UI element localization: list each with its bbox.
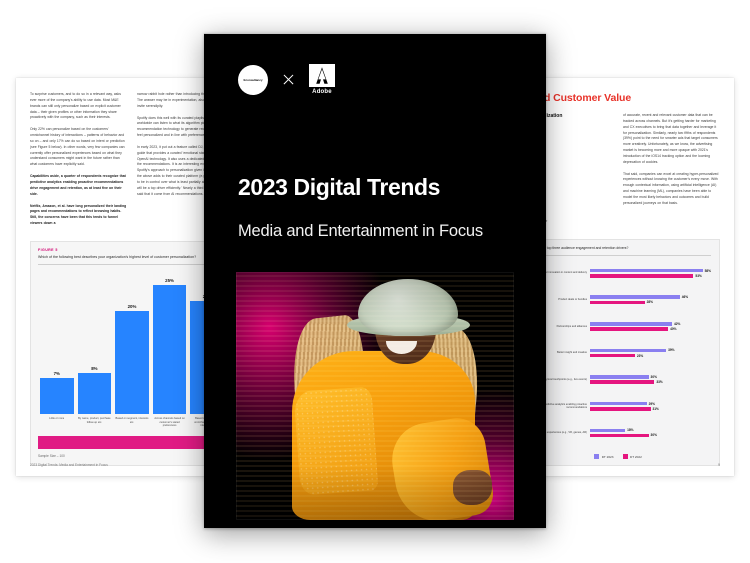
bar-pair: 39%23% — [590, 348, 711, 357]
left-page-column-1: To surprise customers, and to do so in a… — [30, 92, 127, 233]
bar-category-label: Little or none — [49, 417, 64, 431]
bar-line: 31% — [590, 407, 711, 411]
bar-line: 30% — [590, 433, 711, 437]
bar — [590, 402, 647, 406]
bar — [115, 311, 149, 414]
bar-row: Events or physical touchpoints (e.g., li… — [525, 368, 711, 392]
adobe-wordmark: Adobe — [312, 89, 332, 95]
legend-item: DT 2023 — [594, 454, 613, 459]
figure-question: Which of the following best describes yo… — [38, 255, 226, 265]
bar-category-label: Across channels based on customer's stat… — [153, 417, 187, 431]
bar-line: 28% — [590, 300, 711, 304]
bar-group: 8%By name, product, purchase follow-up e… — [78, 270, 112, 431]
bar — [590, 354, 635, 358]
figure-footnote: Sample Size – 100 — [38, 454, 226, 458]
bar-value-label: 31% — [653, 407, 659, 411]
bar-value-label: 33% — [656, 380, 662, 384]
adobe-a-glyph — [309, 64, 335, 87]
bar-pair: 29%31% — [590, 402, 711, 411]
cover-logo-lockup: Econsultancy Adobe — [238, 64, 335, 95]
bar — [590, 407, 651, 411]
bar — [590, 322, 672, 326]
bar-value-label: 8% — [91, 366, 97, 371]
bar-category-label: Based on segment, interests etc. — [115, 417, 149, 431]
footer-page-number: 9 — [718, 463, 720, 467]
bar — [590, 295, 680, 299]
paragraph: Capabilities aside, a quarter of respond… — [30, 174, 127, 197]
right-page-footer: ainment in Focus 9 — [516, 463, 720, 467]
legend-label: DT 2023 — [602, 455, 614, 459]
paragraph: of accurate, recent and relevant custome… — [623, 113, 720, 166]
bar-value-label: 20% — [128, 304, 137, 309]
bar-row: Immersive experiences (e.g., VR, games, … — [525, 421, 711, 445]
bar — [590, 269, 703, 273]
bar-pair: 18%30% — [590, 428, 711, 437]
cover-photo — [236, 272, 514, 520]
bar — [590, 327, 668, 331]
bar-line: 33% — [590, 380, 711, 384]
bar-pair: 42%40% — [590, 322, 711, 331]
bar-value-label: 30% — [651, 433, 657, 437]
bar — [590, 375, 649, 379]
bar-group: 7%Little or none — [40, 270, 74, 431]
bar-line: 30% — [590, 375, 711, 379]
bar-line: 39% — [590, 348, 711, 352]
right-page-column-2: of accurate, recent and relevant custome… — [623, 113, 720, 231]
paragraph: That said, companies can excel at creati… — [623, 172, 720, 207]
paragraph: Netflix, Amazon, et al. have long person… — [30, 204, 127, 227]
x-icon — [282, 73, 295, 86]
legend-item: DT 2022 — [623, 454, 642, 459]
bar — [153, 285, 187, 414]
bar-value-label: 42% — [674, 322, 680, 326]
bar — [78, 373, 112, 414]
econsultancy-logo-text: Econsultancy — [244, 78, 263, 82]
bar-line: 53% — [590, 274, 711, 278]
adobe-logo-icon: Adobe — [309, 64, 335, 95]
photo-border — [236, 272, 514, 520]
bar-row: Greater innovation in content and delive… — [525, 261, 711, 285]
footer-text: 2023 Digital Trends: Media and Entertain… — [30, 463, 108, 467]
horizontal-bar-chart: Greater innovation in content and delive… — [525, 261, 711, 445]
bar-value-label: 53% — [695, 274, 701, 278]
bar — [590, 434, 649, 438]
bar-row: Predictive analytics enabling proactive … — [525, 394, 711, 418]
bar — [590, 429, 625, 433]
bar-value-label: 39% — [668, 348, 674, 352]
bar — [590, 301, 645, 305]
bar-value-label: 29% — [649, 402, 655, 406]
legend-swatch — [594, 454, 599, 459]
figure-label: FIGURE 5 — [38, 248, 226, 252]
bar-row: Better insight and creative39%23% — [525, 341, 711, 365]
bar-value-label: 40% — [670, 327, 676, 331]
figure-accent-bar — [38, 436, 226, 449]
bar-pair: 30%33% — [590, 375, 711, 384]
bar-line: 40% — [590, 327, 711, 331]
cover-subtitle: Media and Entertainment in Focus — [238, 222, 483, 241]
bar-value-label: 30% — [651, 375, 657, 379]
bar-line: 23% — [590, 354, 711, 358]
right-page-figure: organization's top three audience engage… — [516, 239, 720, 466]
bar-group: 25%Across channels based on customer's s… — [153, 270, 187, 431]
document-preview-stage: To surprise customers, and to do so in a… — [0, 0, 750, 563]
bar-line: 58% — [590, 269, 711, 273]
bar-row: Partnerships and alliances42%40% — [525, 314, 711, 338]
bar-line: 18% — [590, 428, 711, 432]
bar-pair: 58%53% — [590, 269, 711, 278]
econsultancy-logo-icon: Econsultancy — [238, 65, 268, 95]
bar-line: 29% — [590, 402, 711, 406]
bar-line: 46% — [590, 295, 711, 299]
bar-value-label: 23% — [637, 354, 643, 358]
bar-pair: 46%28% — [590, 295, 711, 304]
bar-value-label: 18% — [627, 428, 633, 432]
bar-value-label: 25% — [165, 278, 174, 283]
bar-value-label: 46% — [682, 295, 688, 299]
bar-group: 20%Based on segment, interests etc. — [115, 270, 149, 431]
bar-value-label: 28% — [647, 300, 653, 304]
bar-value-label: 7% — [54, 371, 60, 376]
bar-category-label: By name, product, purchase follow-up etc… — [78, 417, 112, 431]
legend-swatch — [623, 454, 628, 459]
bar — [590, 380, 654, 384]
cover-title: 2023 Digital Trends — [238, 174, 440, 201]
vertical-bar-chart: 7%Little or none8%By name, product, purc… — [38, 270, 226, 431]
bar — [590, 274, 693, 278]
bar — [40, 378, 74, 414]
right-page-heading: s Build Customer Value — [516, 92, 720, 104]
paragraph: Only 22% can personalize based on the cu… — [30, 127, 127, 168]
bar — [590, 349, 666, 353]
bar-value-label: 58% — [705, 269, 711, 273]
paragraph: To surprise customers, and to do so in a… — [30, 92, 127, 121]
right-page-columns: per-Personalization product bundling w t… — [516, 113, 720, 231]
figure-question: organization's top three audience engage… — [525, 246, 711, 256]
bar-row: Product deals or bundles46%28% — [525, 288, 711, 312]
report-cover[interactable]: Econsultancy Adobe 2023 Digital Trends M… — [204, 33, 546, 528]
bar-line: 42% — [590, 322, 711, 326]
chart-legend: DT 2023DT 2022 — [525, 450, 711, 459]
legend-label: DT 2022 — [630, 455, 642, 459]
